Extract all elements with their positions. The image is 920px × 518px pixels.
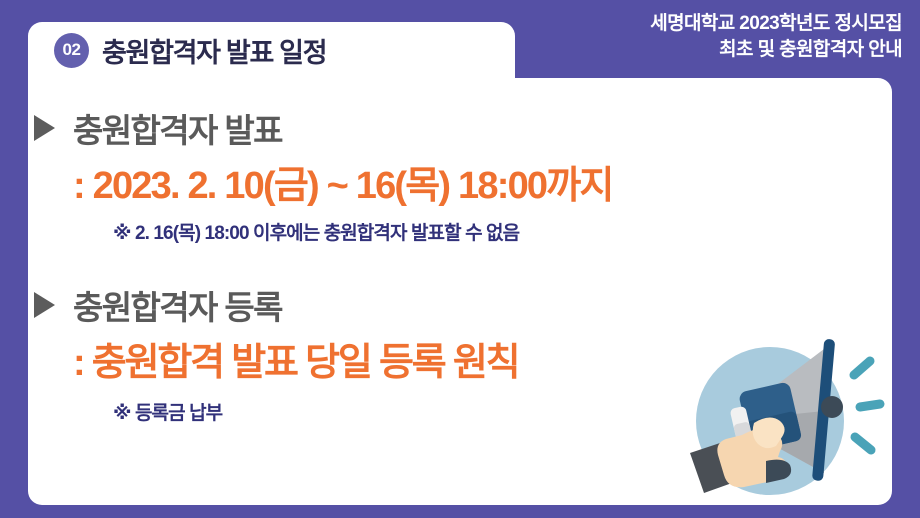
section-detail: : 2023. 2. 10(금) ~ 16(목) 18:00까지 bbox=[28, 154, 892, 209]
triangle-bullet-icon bbox=[34, 292, 55, 318]
content-card: 충원합격자 발표 : 2023. 2. 10(금) ~ 16(목) 18:00까… bbox=[28, 78, 892, 505]
section-announcement: 충원합격자 발표 : 2023. 2. 10(금) ~ 16(목) 18:00까… bbox=[28, 104, 892, 245]
triangle-bullet-icon bbox=[34, 115, 55, 141]
header-subtitle-line1: 세명대학교 2023학년도 정시모집 bbox=[650, 11, 902, 37]
section-number-badge: 02 bbox=[54, 33, 89, 68]
section-heading: 충원합격자 등록 bbox=[73, 281, 282, 329]
slide-root: 세명대학교 2023학년도 정시모집 최초 및 충원합격자 안내 02 충원합격… bbox=[0, 0, 920, 518]
section-heading-row: 충원합격자 발표 bbox=[28, 104, 892, 152]
section-detail: : 충원합격 발표 당일 등록 원칙 bbox=[28, 331, 892, 386]
section-note: ※ 2. 16(목) 18:00 이후에는 충원합격자 발표할 수 없음 bbox=[28, 218, 892, 245]
section-tab: 02 충원합격자 발표 일정 bbox=[28, 22, 515, 78]
header-subtitle: 세명대학교 2023학년도 정시모집 최초 및 충원합격자 안내 bbox=[650, 11, 902, 63]
section-heading: 충원합격자 발표 bbox=[73, 104, 282, 152]
content-body: 충원합격자 발표 : 2023. 2. 10(금) ~ 16(목) 18:00까… bbox=[28, 78, 892, 425]
header-subtitle-line2: 최초 및 충원합격자 안내 bbox=[650, 37, 902, 63]
section-note: ※ 등록금 납부 bbox=[28, 398, 892, 425]
page-title: 충원합격자 발표 일정 bbox=[102, 31, 326, 70]
section-heading-row: 충원합격자 등록 bbox=[28, 281, 892, 329]
section-registration: 충원합격자 등록 : 충원합격 발표 당일 등록 원칙 ※ 등록금 납부 bbox=[28, 281, 892, 425]
